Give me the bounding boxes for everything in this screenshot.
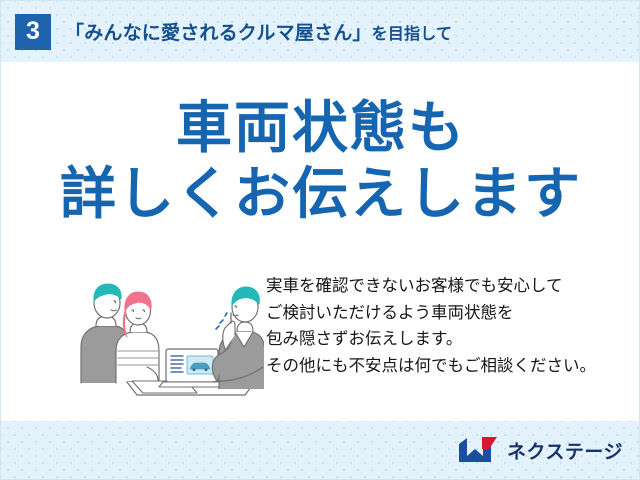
headline: 車両状態も 詳しくお伝えします [1, 95, 640, 227]
headline-line-1: 車両状態も [1, 95, 640, 161]
body-copy-line-3: 包み隠さずお伝えします。 [266, 326, 596, 353]
body-copy-line-1: 実車を確認できないお客様でも安心して [266, 273, 596, 300]
speech-sparkle [216, 313, 227, 329]
consultation-illustration-svg [59, 271, 264, 401]
brand-name-label: ネクステージ [507, 437, 623, 464]
consultation-illustration [59, 271, 264, 401]
salesperson-figure [212, 287, 264, 389]
body-copy-line-2: ご検討いただけるよう車両状態を [266, 300, 596, 327]
header-title: 「みんなに愛されるクルマ屋さん」を目指して [65, 18, 452, 45]
customer-woman-figure [116, 292, 159, 383]
footer-bar: ネクステージ [1, 421, 640, 480]
body-copy: 実車を確認できないお客様でも安心して ご検討いただけるよう車両状態を 包み隠さず… [266, 273, 596, 380]
header-title-quoted: 「みんなに愛されるクルマ屋さん」 [65, 23, 372, 44]
nextage-n-mark-icon [458, 437, 498, 463]
header-bar: 3 「みんなに愛されるクルマ屋さん」を目指して [1, 1, 640, 62]
headline-line-2: 詳しくお伝えします [1, 161, 640, 227]
content-panel: 車両状態も 詳しくお伝えします [1, 62, 640, 421]
body-copy-line-4: その他にも不安点は何でもご相談ください。 [266, 353, 596, 380]
step-number-badge: 3 [15, 14, 51, 50]
header-title-suffix: を目指して [372, 26, 453, 43]
lower-section: 実車を確認できないお客様でも安心して ご検討いただけるよう車両状態を 包み隠さず… [1, 267, 640, 412]
advertisement-banner: 3 「みんなに愛されるクルマ屋さん」を目指して 車両状態も 詳しくお伝えします [0, 0, 640, 480]
brand-logo: ネクステージ [458, 435, 623, 465]
